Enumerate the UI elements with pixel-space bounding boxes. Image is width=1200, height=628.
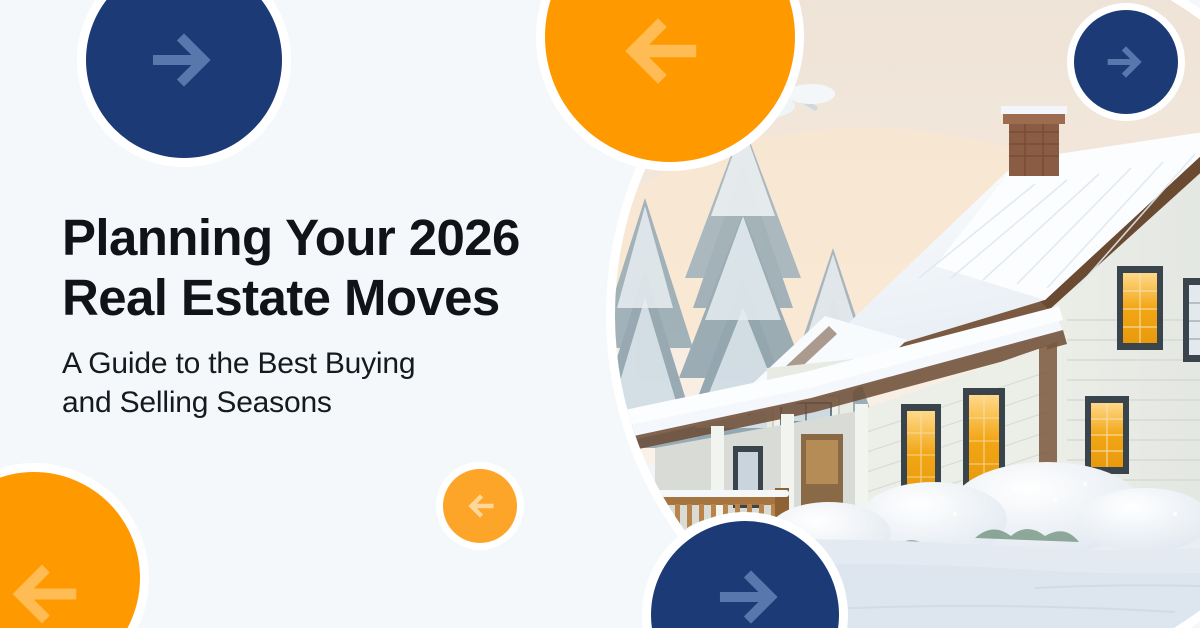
arrow-left-icon xyxy=(463,489,497,523)
window-upper-right xyxy=(1183,278,1200,362)
page-title: Planning Your 2026 Real Estate Moves xyxy=(62,208,602,327)
arrow-left-icon xyxy=(610,3,706,99)
arrow-left-icon xyxy=(0,551,85,628)
social-banner-canvas: Planning Your 2026 Real Estate Moves A G… xyxy=(0,0,1200,628)
subhead-line-1: A Guide to the Best Buying xyxy=(62,345,602,383)
badge-top-left xyxy=(86,0,282,158)
page-subtitle: A Guide to the Best Buying and Selling S… xyxy=(62,345,602,422)
text-block: Planning Your 2026 Real Estate Moves A G… xyxy=(62,208,602,422)
chimney xyxy=(1001,106,1067,176)
badge-bottom-left xyxy=(0,472,140,628)
headline-line-2: Real Estate Moves xyxy=(62,268,602,328)
arrow-right-icon xyxy=(1103,39,1149,85)
arrow-right-icon xyxy=(145,21,223,99)
arrow-right-icon xyxy=(712,558,790,628)
headline-line-1: Planning Your 2026 xyxy=(62,208,602,268)
window-upper-left xyxy=(1117,266,1163,350)
subhead-line-2: and Selling Seasons xyxy=(62,384,602,422)
window-lower-gable xyxy=(1085,396,1129,474)
badge-center-small xyxy=(443,469,517,543)
badge-top-right xyxy=(1074,10,1178,114)
